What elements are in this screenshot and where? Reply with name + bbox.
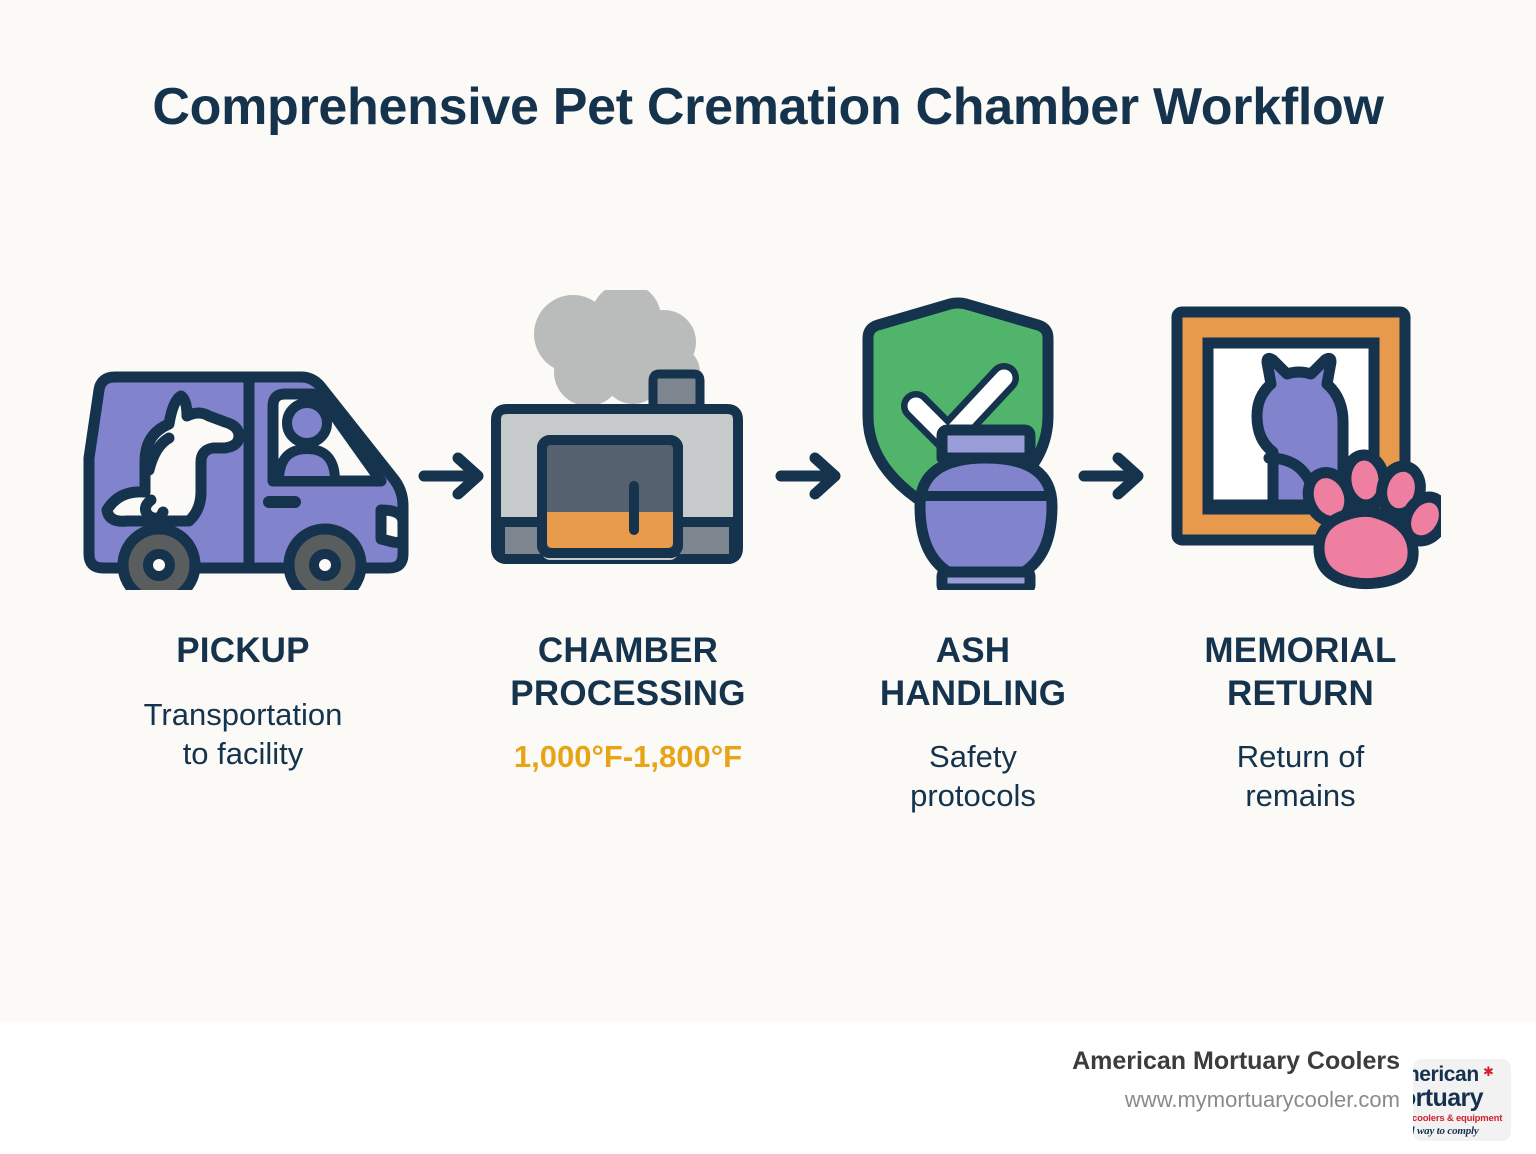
step-chamber-sub: 1,000°F-1,800°F bbox=[438, 737, 818, 776]
footer-text-block: American Mortuary Coolers www.mymortuary… bbox=[1072, 1048, 1400, 1112]
brand-logo-line2: ortuary bbox=[1413, 1086, 1511, 1112]
arrow-chamber-to-ash bbox=[775, 448, 847, 509]
step-pickup-sub: Transportation to facility bbox=[43, 695, 443, 773]
workflow-steps: PICKUP Transportation to facility bbox=[0, 285, 1536, 885]
step-pickup-label: PICKUP bbox=[43, 630, 443, 673]
step-pickup-icon-wrap bbox=[43, 285, 443, 590]
step-ash-handling[interactable]: ASH HANDLING Safety protocols bbox=[838, 285, 1108, 815]
step-ash-label: ASH HANDLING bbox=[838, 630, 1108, 715]
arrow-right-icon bbox=[775, 448, 847, 504]
step-memorial-sub: Return of remains bbox=[1118, 737, 1483, 815]
memorial-frame-cat-paw-icon bbox=[1161, 300, 1441, 590]
brand-logo-line3: ry coolers & equipment bbox=[1413, 1114, 1511, 1124]
star-icon: ✱ bbox=[1483, 1065, 1494, 1078]
page-title: Comprehensive Pet Cremation Chamber Work… bbox=[118, 74, 1418, 142]
step-chamber-icon-wrap bbox=[438, 285, 818, 590]
step-memorial-return[interactable]: MEMORIAL RETURN Return of remains bbox=[1118, 285, 1483, 815]
arrow-right-icon bbox=[1078, 448, 1150, 504]
paw-print-icon bbox=[1301, 453, 1441, 583]
infographic-canvas: Comprehensive Pet Cremation Chamber Work… bbox=[0, 0, 1536, 1154]
brand-logo-line1: merican bbox=[1413, 1064, 1511, 1085]
brand-logo-line4: ool way to comply bbox=[1413, 1125, 1511, 1137]
step-ash-sub: Safety protocols bbox=[838, 737, 1108, 815]
step-memorial-icon-wrap bbox=[1118, 285, 1483, 590]
step-chamber-label: CHAMBER PROCESSING bbox=[438, 630, 818, 715]
delivery-van-with-dog-icon bbox=[63, 350, 423, 590]
arrow-right-icon bbox=[418, 448, 490, 504]
brand-logo-inner: ✱ merican ortuary ry coolers & equipment… bbox=[1413, 1064, 1511, 1137]
arrow-ash-to-memorial bbox=[1078, 448, 1150, 509]
step-pickup[interactable]: PICKUP Transportation to facility bbox=[43, 285, 443, 773]
urn-icon bbox=[920, 430, 1052, 589]
footer-website-url: www.mymortuarycooler.com bbox=[1072, 1088, 1400, 1112]
shield-check-with-urn-icon bbox=[848, 290, 1098, 590]
arrow-pickup-to-chamber bbox=[418, 448, 490, 509]
step-ash-icon-wrap bbox=[838, 285, 1108, 590]
step-memorial-label: MEMORIAL RETURN bbox=[1118, 630, 1483, 715]
footer-company-name: American Mortuary Coolers bbox=[1072, 1048, 1400, 1076]
footer-bar: American Mortuary Coolers www.mymortuary… bbox=[0, 1022, 1536, 1154]
brand-logo: ✱ merican ortuary ry coolers & equipment… bbox=[1413, 1059, 1511, 1141]
step-chamber-processing[interactable]: CHAMBER PROCESSING 1,000°F-1,800°F bbox=[438, 285, 818, 776]
cremation-chamber-icon bbox=[478, 290, 778, 590]
